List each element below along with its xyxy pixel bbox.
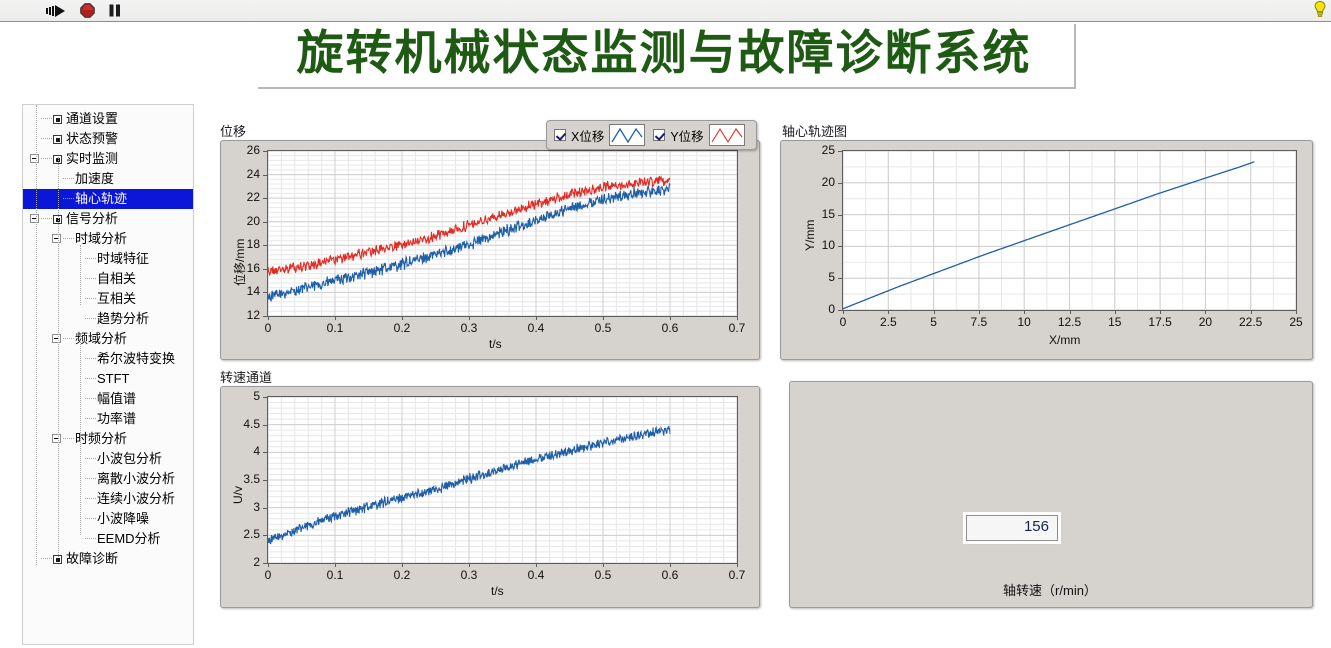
y-axis-tick-label: 26 (227, 143, 260, 157)
sidebar-item-label: 连续小波分析 (97, 491, 175, 506)
axis-tick-mark (469, 316, 470, 320)
tree-connector (85, 258, 96, 260)
y-axis-tick-label: 10 (802, 238, 835, 252)
x-axis-tick-label: 0.4 (522, 568, 550, 582)
axis-tick-mark (838, 151, 842, 152)
axis-tick-mark (263, 535, 267, 536)
axis-tick-mark (934, 310, 935, 314)
x-axis-tick-label: 0.2 (388, 568, 416, 582)
sidebar-item-label: 轴心轨迹 (75, 191, 127, 206)
tree-connector (41, 558, 52, 560)
sidebar-item-label: EEMD分析 (97, 531, 161, 546)
y-axis-tick-label: 22 (227, 190, 260, 204)
axis-tick-mark (263, 245, 267, 246)
tree-connector (63, 198, 74, 200)
sidebar-item-13[interactable]: STFT (23, 369, 193, 389)
tree-guide-line (80, 335, 82, 435)
tree-node-icon (53, 135, 62, 144)
axis-tick-mark (1251, 310, 1252, 314)
x-axis-tick-label: 0.1 (321, 568, 349, 582)
tree-connector (63, 178, 74, 180)
sidebar-item-10[interactable]: 趋势分析 (23, 309, 193, 329)
x-axis-tick-label: 15 (1101, 315, 1129, 329)
sidebar-item-21[interactable]: EEMD分析 (23, 529, 193, 549)
axis-tick-mark (838, 278, 842, 279)
displacement-x-axis-label: t/s (489, 337, 502, 351)
axis-tick-mark (402, 316, 403, 320)
speed-x-axis-label: t/s (491, 584, 504, 598)
speed-caption: 转速通道 (220, 367, 272, 386)
y-axis-tick-label: 15 (802, 207, 835, 221)
axis-tick-mark (402, 563, 403, 567)
sidebar-item-label: 幅值谱 (97, 391, 136, 406)
axis-tick-mark (536, 316, 537, 320)
sidebar-item-19[interactable]: 连续小波分析 (23, 489, 193, 509)
tree-guide-line (80, 245, 82, 305)
legend-checkbox-x[interactable] (554, 129, 566, 141)
tree-connector (41, 158, 52, 160)
axis-tick-mark (268, 563, 269, 567)
sidebar-item-15[interactable]: 功率谱 (23, 409, 193, 429)
tree-connector (85, 358, 96, 360)
tree-guide-line (80, 435, 82, 535)
sidebar-item-label: 互相关 (97, 291, 136, 306)
axis-tick-mark (335, 316, 336, 320)
tree-connector (85, 498, 96, 500)
tree-connector (85, 458, 96, 460)
x-axis-tick-label: 0.7 (723, 568, 751, 582)
sidebar-item-label: 希尔波特变换 (97, 351, 175, 366)
axis-tick-mark (603, 563, 604, 567)
orbit-x-axis-label: X/mm (1049, 333, 1080, 347)
speed-gauge-panel[interactable]: 020406080100120140160180200 156 轴转速（r/mi… (789, 381, 1313, 608)
axis-tick-mark (1070, 310, 1071, 314)
y-axis-tick-label: 14 (227, 284, 260, 298)
sidebar-item-label: 故障诊断 (53, 551, 118, 566)
sidebar-item-label: STFT (97, 371, 130, 386)
sidebar-item-18[interactable]: 离散小波分析 (23, 469, 193, 489)
y-axis-tick-label: 18 (227, 237, 260, 251)
highlight-bulb-icon[interactable] (1313, 1, 1327, 18)
axis-tick-mark (737, 563, 738, 567)
x-axis-tick-label: 2.5 (874, 315, 902, 329)
orbit-graph[interactable]: Y/mm X/mm 02.557.51012.51517.52022.525 0… (780, 140, 1313, 360)
sidebar-item-7[interactable]: 时域特征 (23, 249, 193, 269)
x-axis-tick-label: 25 (1282, 315, 1310, 329)
y-axis-tick-label: 4 (227, 444, 260, 458)
axis-tick-mark (838, 183, 842, 184)
page-title: 旋转机械状态监测与故障诊断系统 (258, 26, 1070, 82)
navigation-tree[interactable]: 通道设置状态预警实时监测加速度轴心轨迹信号分析时域分析时域特征自相关互相关趋势分… (22, 104, 194, 645)
x-axis-tick-label: 0.6 (656, 568, 684, 582)
tree-connector (85, 398, 96, 400)
sidebar-item-20[interactable]: 小波降噪 (23, 509, 193, 529)
sidebar-item-12[interactable]: 希尔波特变换 (23, 349, 193, 369)
axis-tick-mark (268, 316, 269, 320)
legend-style-preview-y[interactable] (709, 124, 745, 146)
y-axis-tick-label: 20 (227, 214, 260, 228)
x-axis-tick-label: 7.5 (965, 315, 993, 329)
axis-tick-mark (263, 198, 267, 199)
legend-label-y: Y位移 (670, 126, 703, 145)
x-axis-tick-label: 0 (254, 321, 282, 335)
x-axis-tick-label: 0.6 (656, 321, 684, 335)
sidebar-item-label: 时域特征 (97, 251, 149, 266)
y-axis-tick-label: 2 (227, 555, 260, 569)
stop-icon[interactable] (80, 3, 95, 18)
legend-style-preview-x[interactable] (609, 124, 645, 146)
axis-tick-mark (838, 310, 842, 311)
axis-tick-mark (1296, 310, 1297, 314)
y-axis-tick-label: 2.5 (227, 527, 260, 541)
x-axis-tick-label: 12.5 (1056, 315, 1084, 329)
tree-connector (85, 538, 96, 540)
x-axis-tick-label: 0.3 (455, 321, 483, 335)
tree-guide-line (58, 157, 60, 557)
x-axis-tick-label: 5 (920, 315, 948, 329)
speed-plot-area (267, 396, 738, 564)
axis-tick-mark (263, 425, 267, 426)
sidebar-item-11[interactable]: 频域分析 (23, 329, 193, 349)
displacement-caption: 位移 (220, 121, 246, 140)
orbit-caption: 轴心轨迹图 (782, 121, 847, 140)
toolbar (0, 0, 1331, 22)
pause-icon[interactable] (109, 4, 121, 17)
sidebar-item-label: 自相关 (97, 271, 136, 286)
sidebar-item-label: 时频分析 (75, 431, 127, 446)
axis-tick-mark (1115, 310, 1116, 314)
sidebar-item-14[interactable]: 幅值谱 (23, 389, 193, 409)
x-axis-tick-label: 0.7 (723, 321, 751, 335)
axis-tick-mark (469, 563, 470, 567)
axis-tick-mark (979, 310, 980, 314)
sidebar-item-22[interactable]: 故障诊断 (23, 549, 193, 569)
axis-tick-mark (263, 452, 267, 453)
tree-connector (85, 278, 96, 280)
legend-item-y[interactable]: Y位移 (653, 124, 744, 146)
legend-label-x: X位移 (571, 126, 604, 145)
sidebar-item-label: 加速度 (75, 171, 114, 186)
sidebar-item-9[interactable]: 互相关 (23, 289, 193, 309)
axis-tick-mark (263, 292, 267, 293)
tree-connector (85, 298, 96, 300)
speed-gauge-value[interactable]: 156 (966, 515, 1058, 541)
speed-gauge-dial: 020406080100120140160180200 (790, 382, 1312, 609)
sidebar-item-label: 离散小波分析 (97, 471, 175, 486)
tree-connector (41, 138, 52, 140)
sidebar-item-label: 实时监测 (53, 151, 118, 166)
tree-node-icon (53, 115, 62, 124)
sidebar-item-label: 通道设置 (53, 111, 118, 126)
sidebar-item-label: 时域分析 (75, 231, 127, 246)
application-window: 旋转机械状态监测与故障诊断系统 通道设置状态预警实时监测加速度轴心轨迹信号分析时… (0, 0, 1331, 648)
tree-connector (85, 318, 96, 320)
x-axis-tick-label: 0.3 (455, 568, 483, 582)
axis-tick-mark (263, 397, 267, 398)
tree-connector (85, 518, 96, 520)
tree-connector (63, 438, 74, 440)
axis-tick-mark (838, 215, 842, 216)
tree-connector (85, 378, 96, 380)
y-axis-tick-label: 0 (802, 302, 835, 316)
tree-connector (41, 218, 52, 220)
axis-tick-mark (263, 222, 267, 223)
x-axis-tick-label: 0.1 (321, 321, 349, 335)
y-axis-tick-label: 5 (802, 270, 835, 284)
orbit-plot-area (842, 150, 1297, 311)
axis-tick-mark (1205, 310, 1206, 314)
displacement-legend[interactable]: X位移 Y位移 (546, 120, 757, 150)
sidebar-item-label: 小波降噪 (97, 511, 149, 526)
axis-tick-mark (536, 563, 537, 567)
axis-tick-mark (263, 563, 267, 564)
axis-tick-mark (670, 563, 671, 567)
sidebar-item-5[interactable]: 信号分析 (23, 209, 193, 229)
sidebar-item-label: 小波包分析 (97, 451, 162, 466)
sidebar-item-label: 频域分析 (75, 331, 127, 346)
axis-tick-mark (838, 246, 842, 247)
tree-connector (63, 338, 74, 340)
x-axis-tick-label: 0 (829, 315, 857, 329)
x-axis-tick-label: 22.5 (1237, 315, 1265, 329)
tree-connector (85, 418, 96, 420)
x-axis-tick-label: 0 (254, 568, 282, 582)
axis-tick-mark (843, 310, 844, 314)
x-axis-tick-label: 0.5 (589, 321, 617, 335)
sidebar-item-label: 状态预警 (53, 131, 118, 146)
x-axis-tick-label: 10 (1010, 315, 1038, 329)
speed-graph[interactable]: U/v t/s 00.10.20.30.40.50.60.7 22.533.54… (220, 386, 760, 608)
sidebar-item-4[interactable]: 轴心轨迹 (23, 189, 193, 209)
x-axis-tick-label: 0.5 (589, 568, 617, 582)
x-axis-tick-label: 0.2 (388, 321, 416, 335)
y-axis-tick-label: 24 (227, 167, 260, 181)
sidebar-item-6[interactable]: 时域分析 (23, 229, 193, 249)
sidebar-item-17[interactable]: 小波包分析 (23, 449, 193, 469)
sidebar-item-label: 信号分析 (53, 211, 118, 226)
y-axis-tick-label: 25 (802, 143, 835, 157)
page-title-frame: 旋转机械状态监测与故障诊断系统 (258, 24, 1076, 89)
y-axis-tick-label: 3.5 (227, 472, 260, 486)
tree-connector (41, 118, 52, 120)
y-axis-tick-label: 20 (802, 175, 835, 189)
legend-checkbox-y[interactable] (653, 129, 665, 141)
axis-tick-mark (670, 316, 671, 320)
toolbar-icon-group (46, 1, 121, 20)
tree-connector (85, 478, 96, 480)
axis-tick-mark (737, 316, 738, 320)
navigation-tree-list: 通道设置状态预警实时监测加速度轴心轨迹信号分析时域分析时域特征自相关互相关趋势分… (23, 105, 193, 569)
y-axis-tick-label: 16 (227, 261, 260, 275)
run-arrow-icon[interactable] (46, 4, 66, 18)
sidebar-item-1[interactable]: 状态预警 (23, 129, 193, 149)
y-axis-tick-label: 12 (227, 308, 260, 322)
speed-gauge-caption: 轴转速（r/min） (920, 580, 1180, 599)
y-axis-tick-label: 5 (227, 389, 260, 403)
x-axis-tick-label: 0.4 (522, 321, 550, 335)
sidebar-item-label: 功率谱 (97, 411, 136, 426)
sidebar-item-2[interactable]: 实时监测 (23, 149, 193, 169)
axis-tick-mark (335, 563, 336, 567)
axis-tick-mark (263, 175, 267, 176)
sidebar-item-3[interactable]: 加速度 (23, 169, 193, 189)
axis-tick-mark (263, 151, 267, 152)
legend-item-x[interactable]: X位移 (554, 124, 645, 146)
sidebar-item-16[interactable]: 时频分析 (23, 429, 193, 449)
x-axis-tick-label: 17.5 (1146, 315, 1174, 329)
axis-tick-mark (263, 269, 267, 270)
displacement-plot-area (267, 150, 738, 317)
axis-tick-mark (263, 316, 267, 317)
sidebar-item-label: 趋势分析 (97, 311, 149, 326)
y-axis-tick-label: 3 (227, 500, 260, 514)
displacement-graph[interactable]: 位移/mm t/s 00.10.20.30.40.50.60.7 1214161… (220, 140, 760, 360)
axis-tick-mark (1024, 310, 1025, 314)
tree-guide-line (36, 105, 38, 565)
axis-tick-mark (263, 480, 267, 481)
y-axis-tick-label: 4.5 (227, 417, 260, 431)
x-axis-tick-label: 20 (1191, 315, 1219, 329)
tree-connector (63, 238, 74, 240)
axis-tick-mark (263, 508, 267, 509)
sidebar-item-0[interactable]: 通道设置 (23, 109, 193, 129)
axis-tick-mark (603, 316, 604, 320)
axis-tick-mark (888, 310, 889, 314)
axis-tick-mark (1160, 310, 1161, 314)
sidebar-item-8[interactable]: 自相关 (23, 269, 193, 289)
